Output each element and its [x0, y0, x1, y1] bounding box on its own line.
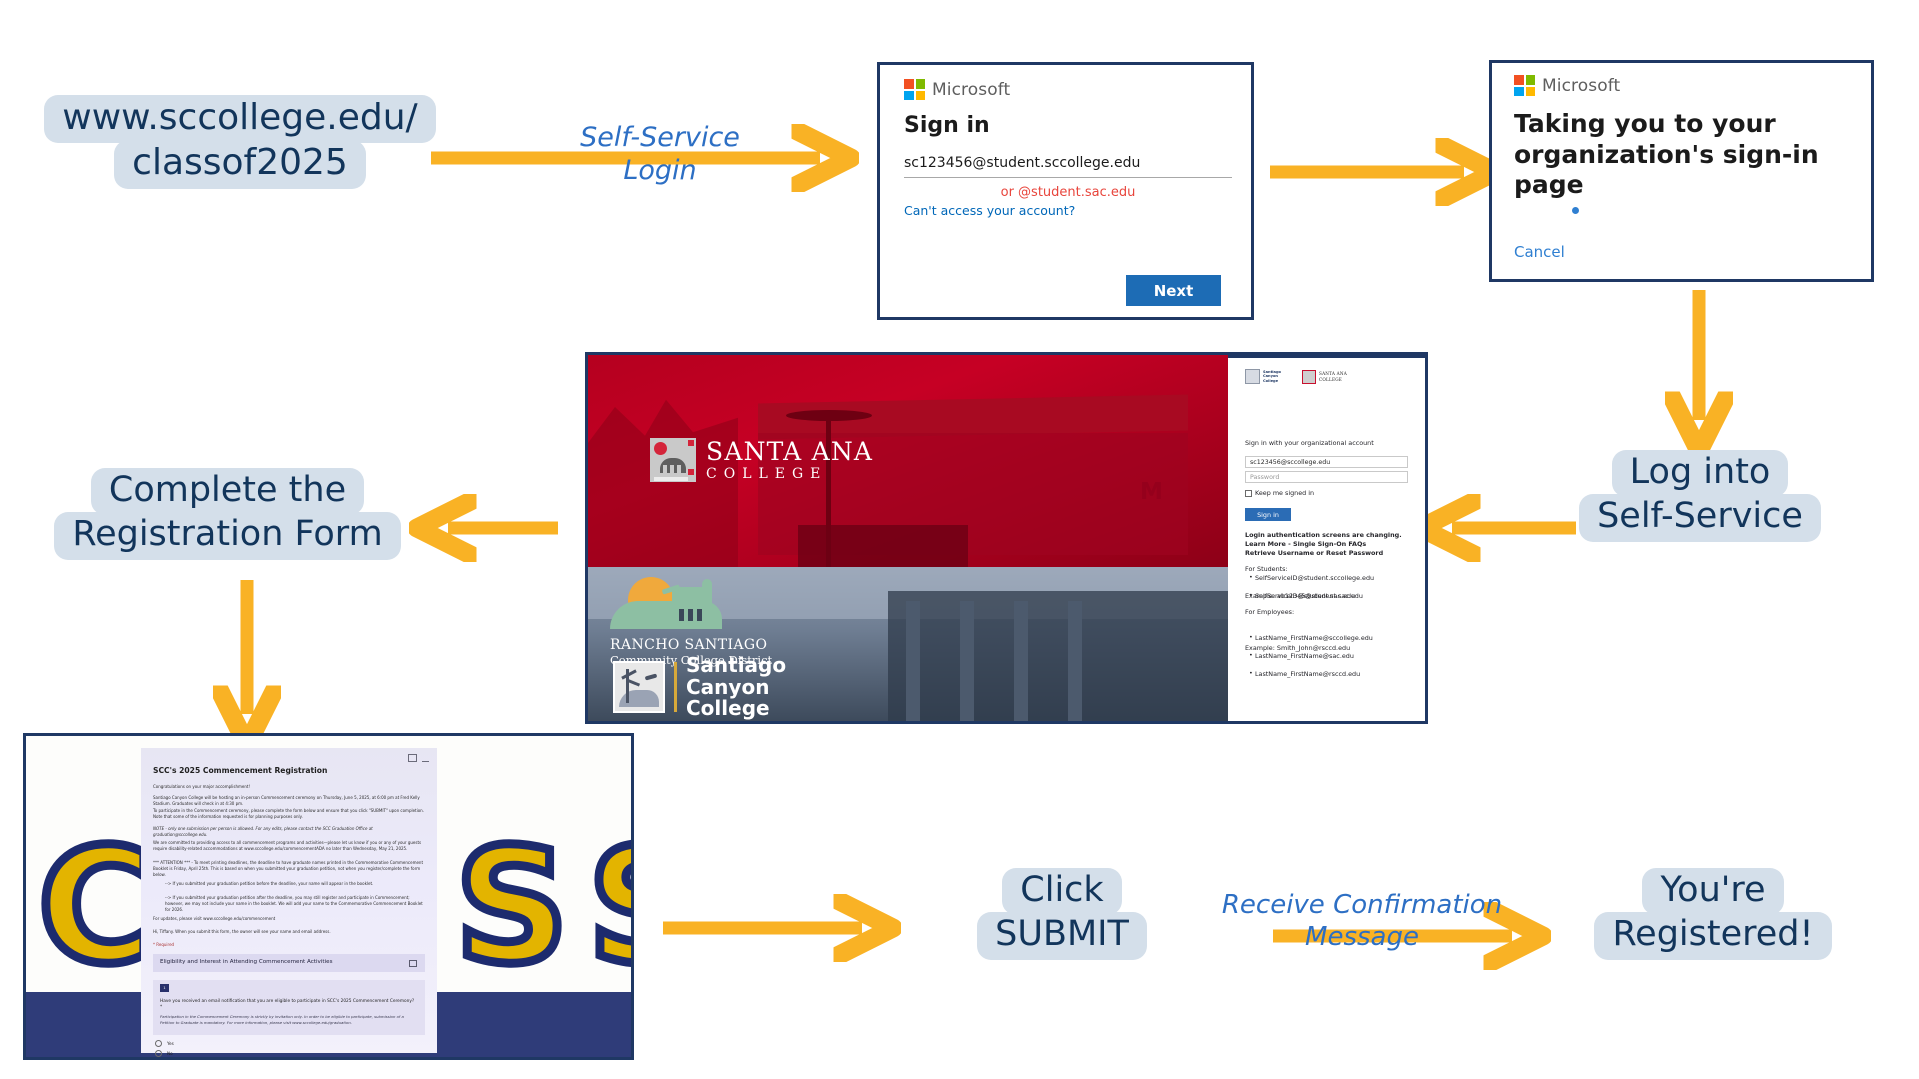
form-bullet: --> If you submitted your graduation pet… — [165, 895, 423, 913]
microsoft-logo: Microsoft — [904, 79, 1010, 100]
step-click-submit-line2: SUBMIT — [977, 912, 1147, 959]
sso-employees-heading: For Employees: — [1245, 608, 1294, 617]
step-url-line1: www.sccollege.edu/ — [44, 95, 435, 143]
sso-logos: Santiago Canyon College SANTA ANA COLLEG… — [1245, 369, 1363, 384]
radio-icon[interactable] — [155, 1050, 162, 1057]
microsoft-logo: Microsoft — [1514, 75, 1620, 96]
form-paragraph: Congratulations on your major accomplish… — [153, 784, 425, 790]
form-greeting: Hi, Tiffany. When you submit this form, … — [153, 929, 425, 935]
sso-username-input[interactable]: sc123456@sccollege.edu — [1245, 456, 1408, 468]
sso-employees-item: LastName_FirstName@rsccd.edu — [1247, 670, 1425, 679]
radio-icon[interactable] — [155, 1040, 162, 1047]
campus-photo: M SANTA ANA COLLEGE — [588, 355, 1228, 721]
form-option[interactable]: No — [155, 1050, 173, 1057]
step-registered-bubble: You're Registered! — [1573, 868, 1853, 960]
form-question-text: Have you received an email notification … — [160, 999, 416, 1011]
form-window-controls[interactable] — [408, 754, 429, 762]
microsoft-wordmark: Microsoft — [932, 80, 1010, 100]
signin-title: Sign in — [904, 113, 990, 138]
step-url-bubble: www.sccollege.edu/ classof2025 — [40, 95, 440, 189]
sso-students-example: Example: ab12345@student.sac.edu — [1245, 592, 1363, 601]
form-paragraph: To participate in the Commencement cerem… — [153, 808, 425, 820]
alt-domain-note: or @student.sac.edu — [904, 185, 1232, 200]
step-click-submit-bubble: Click SUBMIT — [968, 868, 1156, 960]
sso-notice: Login authentication screens are changin… — [1245, 531, 1420, 540]
microsoft-redirect-card: Microsoft Taking you to your organizatio… — [1489, 60, 1874, 282]
form-paragraph: Santiago Canyon College will be hosting … — [153, 795, 425, 807]
form-section-title: Eligibility and Interest in Attending Co… — [160, 959, 333, 965]
cant-access-account-link[interactable]: Can't access your account? — [904, 203, 1075, 218]
keep-me-signed-in-checkbox[interactable]: Keep me signed in — [1245, 489, 1314, 498]
sso-sign-in-button[interactable]: Sign in — [1245, 508, 1291, 521]
connector-receive-confirmation: Receive Confirmation Message — [1212, 890, 1512, 953]
form-heading: SCC's 2025 Commencement Registration — [153, 766, 327, 775]
connector-receive-confirmation-line2: Message — [1212, 922, 1512, 954]
step-registered-line2: Registered! — [1594, 912, 1831, 959]
form-bullet: --> If you submitted your graduation pet… — [165, 881, 423, 887]
connector-receive-confirmation-line1: Receive Confirmation — [1212, 890, 1512, 922]
step-log-into-bubble: Log into Self-Service — [1580, 450, 1820, 542]
form-question-help: Participation in the Commencement Ceremo… — [160, 1014, 416, 1025]
scc-logo-line2: Canyon — [686, 677, 786, 699]
step-complete-form-bubble: Complete the Registration Form — [55, 468, 400, 560]
scc-logo-line3: College — [686, 698, 786, 720]
microsoft-squares-icon — [1514, 75, 1535, 96]
connector-self-service-login: Self-Service Login — [540, 122, 780, 188]
form-question-number: 1 — [160, 984, 169, 992]
sso-password-input[interactable]: Password — [1245, 471, 1408, 483]
sso-employees-item: LastName_FirstName@sccollege.edu — [1247, 634, 1425, 643]
microsoft-signin-card: Microsoft Sign in sc123456@student.sccol… — [877, 62, 1254, 320]
form-paragraph: *** ATTENTION *** - To meet printing dea… — [153, 860, 425, 878]
loading-dot-icon — [1572, 207, 1579, 214]
microsoft-squares-icon — [904, 79, 925, 100]
registration-form-screenshot: CLASS OF SCC's 2025 Commencement Registr… — [23, 733, 634, 1060]
sso-employees-example: Example: Smith_John@rsccd.edu — [1245, 644, 1350, 653]
sac-logo-line2: COLLEGE — [706, 466, 873, 482]
microsoft-wordmark: Microsoft — [1542, 76, 1620, 96]
sso-prompt: Sign in with your organizational account — [1245, 439, 1415, 448]
sso-logo-sac-label: SANTA ANA COLLEGE — [1319, 371, 1363, 382]
cancel-link[interactable]: Cancel — [1514, 243, 1565, 261]
redirect-title: Taking you to your organization's sign-i… — [1514, 109, 1862, 201]
step-log-into-line1: Log into — [1612, 450, 1789, 497]
sso-signin-screenshot: M SANTA ANA COLLEGE — [585, 352, 1428, 724]
form-option[interactable]: Yes — [155, 1040, 174, 1047]
form-option-label: Yes — [167, 1041, 174, 1046]
sso-employees-item: LastName_FirstName@sac.edu — [1247, 652, 1425, 661]
form-option-label: No — [167, 1051, 173, 1056]
form-required-note: * Required — [153, 942, 174, 948]
step-url-line2: classof2025 — [114, 140, 366, 188]
sso-faq-link[interactable]: Learn More - Single Sign-On FAQs — [1245, 540, 1366, 549]
step-complete-form-line1: Complete the — [91, 468, 364, 515]
santa-ana-college-logo: SANTA ANA COLLEGE — [650, 437, 873, 482]
sac-logo-line1: SANTA ANA — [706, 437, 873, 466]
sso-logo-scc-label: Santiago Canyon College — [1263, 370, 1289, 383]
sso-retrieve-link[interactable]: Retrieve Username or Reset Password — [1245, 549, 1383, 558]
form-paragraph: NOTE - only one submission per person is… — [153, 826, 425, 838]
building-letter: M — [1140, 479, 1163, 505]
ms-forms-sheet: SCC's 2025 Commencement Registration Con… — [141, 748, 437, 1053]
step-log-into-line2: Self-Service — [1579, 494, 1821, 541]
email-field[interactable]: sc123456@student.sccollege.edu — [904, 155, 1232, 178]
step-complete-form-line2: Registration Form — [54, 512, 400, 559]
form-updates-line: For updates, please visit www.sccollege.… — [153, 916, 425, 922]
connector-self-service-login-line2: Login — [540, 155, 780, 188]
form-paragraph: We are committed to providing access to … — [153, 840, 425, 852]
connector-self-service-login-line1: Self-Service — [540, 122, 780, 155]
sso-form-panel: Santiago Canyon College SANTA ANA COLLEG… — [1228, 355, 1425, 721]
scc-logo-line1: Santiago — [686, 655, 786, 677]
next-button[interactable]: Next — [1126, 275, 1221, 306]
form-section-image-icon — [409, 960, 417, 967]
step-click-submit-line1: Click — [1002, 868, 1121, 915]
keep-me-signed-in-label: Keep me signed in — [1255, 489, 1314, 498]
sso-students-item: SelfServiceID@student.sccollege.edu — [1247, 574, 1425, 583]
santiago-canyon-college-logo: Santiago Canyon College — [613, 655, 786, 720]
step-registered-line1: You're — [1642, 868, 1783, 915]
